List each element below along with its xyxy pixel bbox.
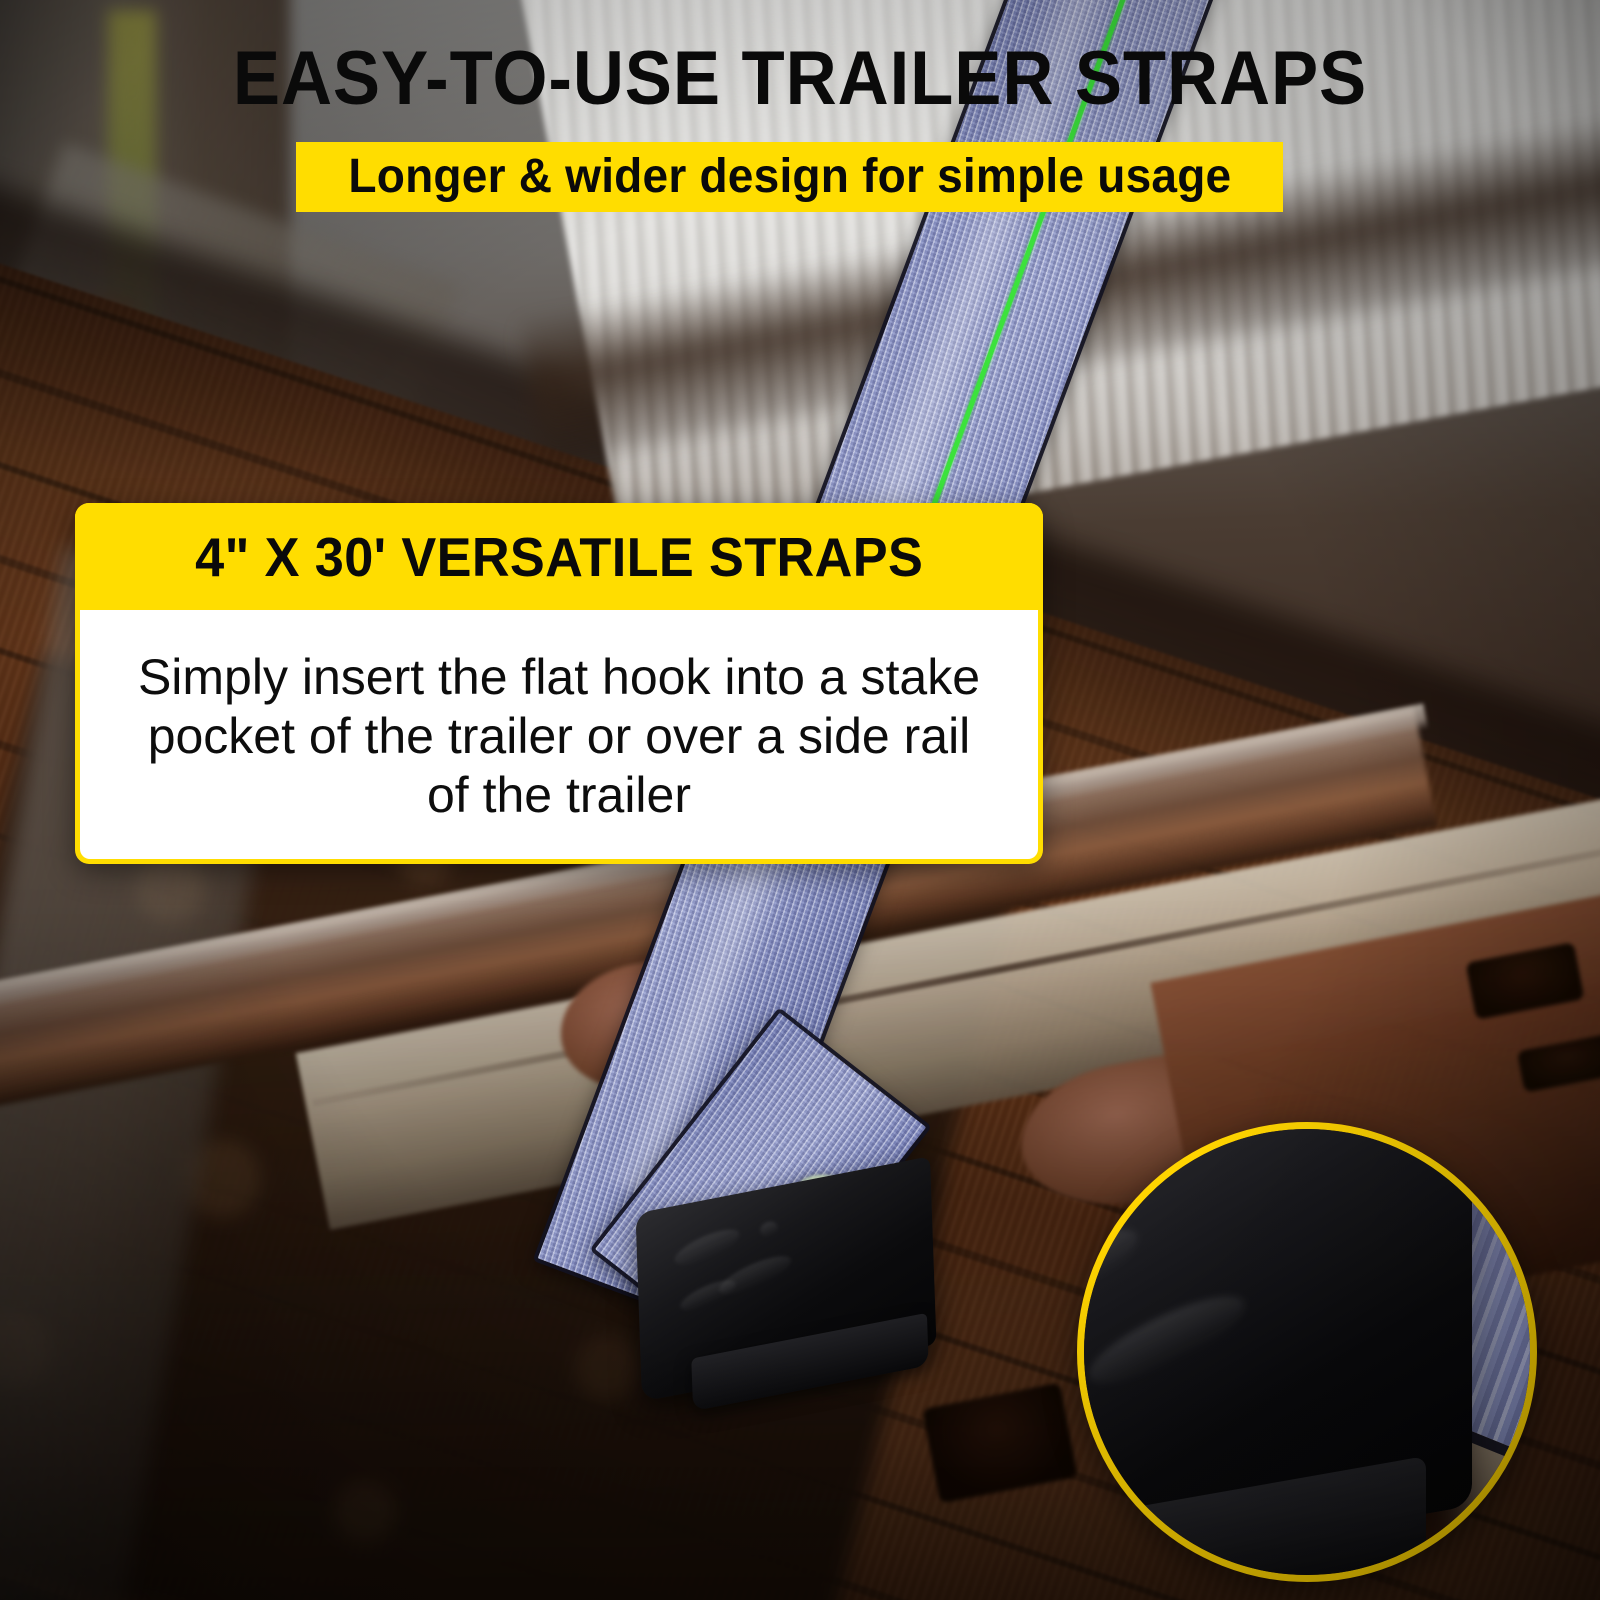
flat-hook-detail-callout	[1077, 1122, 1537, 1582]
feature-card-title: 4" X 30' VERSATILE STRAPS	[195, 528, 923, 586]
subtitle-banner: Longer & wider design for simple usage	[296, 142, 1283, 212]
product-marketing-image: EASY-TO-USE TRAILER STRAPS Longer & wide…	[0, 0, 1600, 1600]
subtitle-banner-text: Longer & wider design for simple usage	[348, 152, 1231, 202]
feature-card-description: Simply insert the flat hook into a stake…	[138, 649, 980, 823]
feature-info-card: 4" X 30' VERSATILE STRAPS Simply insert …	[75, 503, 1043, 864]
feature-card-header: 4" X 30' VERSATILE STRAPS	[75, 503, 1043, 610]
page-title: EASY-TO-USE TRAILER STRAPS	[56, 38, 1544, 120]
callout-magnified-scene	[1077, 1122, 1537, 1582]
feature-card-body: Simply insert the flat hook into a stake…	[80, 610, 1038, 859]
